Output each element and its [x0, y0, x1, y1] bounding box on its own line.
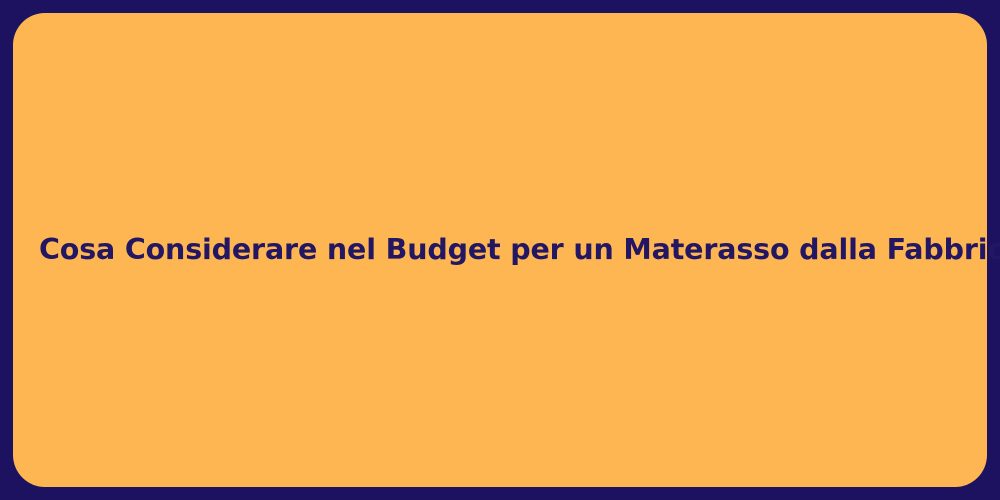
orange-card: Cosa Considerare nel Budget per un Mater… — [13, 13, 987, 487]
page-title: Cosa Considerare nel Budget per un Mater… — [13, 232, 987, 268]
navy-frame: Cosa Considerare nel Budget per un Mater… — [0, 0, 1000, 500]
